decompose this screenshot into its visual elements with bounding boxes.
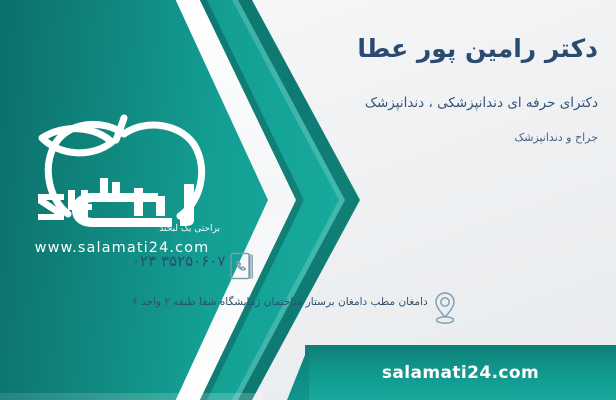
- logo-tagline: براحتی یک لبخند: [159, 224, 220, 234]
- salamati24-logo-icon: [16, 112, 228, 230]
- map-pin-icon: [428, 288, 462, 328]
- doctor-name: دکتر رامین پور عطا: [168, 34, 598, 63]
- teal-bottom-band: [0, 393, 262, 400]
- doctor-specialty: دکترای حرفه ای دندانپزشکی ، دندانپزشک: [168, 95, 598, 111]
- doctor-subspecialty: جراح و دندانپزشک: [168, 131, 598, 144]
- address-text: دامغان مطب دامغان برستار ساختمان ژمایشگا…: [132, 288, 428, 310]
- phone-number: ۳۵۲۵۰۶۰۷ ۰۲۳: [132, 246, 225, 270]
- phone-book-icon: [225, 246, 259, 286]
- footer-bar[interactable]: salamati24.com: [305, 345, 616, 400]
- business-card: براحتی یک لبخند www.salamati24.com دکتر …: [0, 0, 616, 400]
- address-row[interactable]: دامغان مطب دامغان برستار ساختمان ژمایشگا…: [132, 288, 602, 328]
- phone-row[interactable]: ۳۵۲۵۰۶۰۷ ۰۲۳: [132, 246, 602, 286]
- footer-website: salamati24.com: [382, 363, 539, 383]
